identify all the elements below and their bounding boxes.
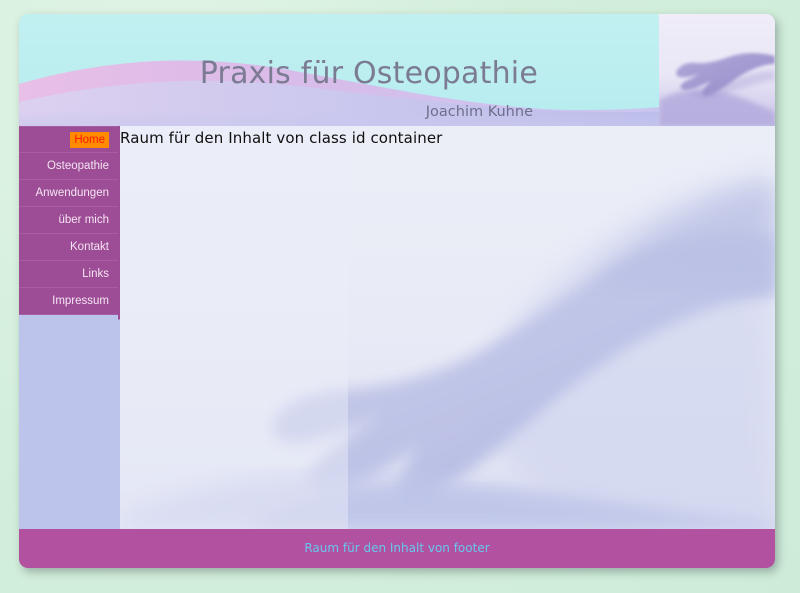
header-title-block: Praxis für Osteopathie Joachim Kuhne	[19, 14, 659, 126]
site-subtitle: Joachim Kuhne	[426, 104, 533, 120]
site-header: Praxis für Osteopathie Joachim Kuhne	[19, 14, 775, 126]
site-container: Praxis für Osteopathie Joachim Kuhne	[19, 14, 775, 568]
header-hands-photo	[659, 14, 775, 126]
sidebar-item-label: Impressum	[52, 288, 109, 315]
sidebar: Home Osteopathie Anwendungen über mich K…	[19, 126, 118, 529]
site-footer: Raum für den Inhalt von footer	[19, 529, 775, 568]
sidebar-item-label: über mich	[59, 207, 110, 234]
content-hand-watermark	[118, 126, 775, 529]
sidebar-item-ueber-mich[interactable]: über mich	[19, 207, 118, 234]
body-row: Home Osteopathie Anwendungen über mich K…	[19, 126, 775, 529]
content-left-edge-divider	[118, 126, 120, 529]
site-title: Praxis für Osteopathie	[200, 56, 538, 91]
sidebar-item-kontakt[interactable]: Kontakt	[19, 234, 118, 261]
sidebar-item-label: Osteopathie	[47, 153, 109, 180]
sidebar-item-label: Kontakt	[70, 234, 109, 261]
sidebar-item-label: Links	[82, 261, 109, 288]
sidebar-item-osteopathie[interactable]: Osteopathie	[19, 153, 118, 180]
sidebar-navigation[interactable]: Home Osteopathie Anwendungen über mich K…	[19, 126, 118, 315]
footer-text: Raum für den Inhalt von footer	[19, 529, 775, 555]
sidebar-item-label: Home	[70, 132, 109, 148]
content-heading: Raum für den Inhalt von class id contain…	[120, 129, 442, 147]
sidebar-item-impressum[interactable]: Impressum	[19, 288, 118, 315]
sidebar-item-links[interactable]: Links	[19, 261, 118, 288]
sidebar-item-home[interactable]: Home	[19, 126, 118, 153]
content-area: Raum für den Inhalt von class id contain…	[118, 126, 775, 529]
hands-illustration-icon	[659, 14, 775, 126]
sidebar-item-label: Anwendungen	[35, 180, 109, 207]
sidebar-item-anwendungen[interactable]: Anwendungen	[19, 180, 118, 207]
